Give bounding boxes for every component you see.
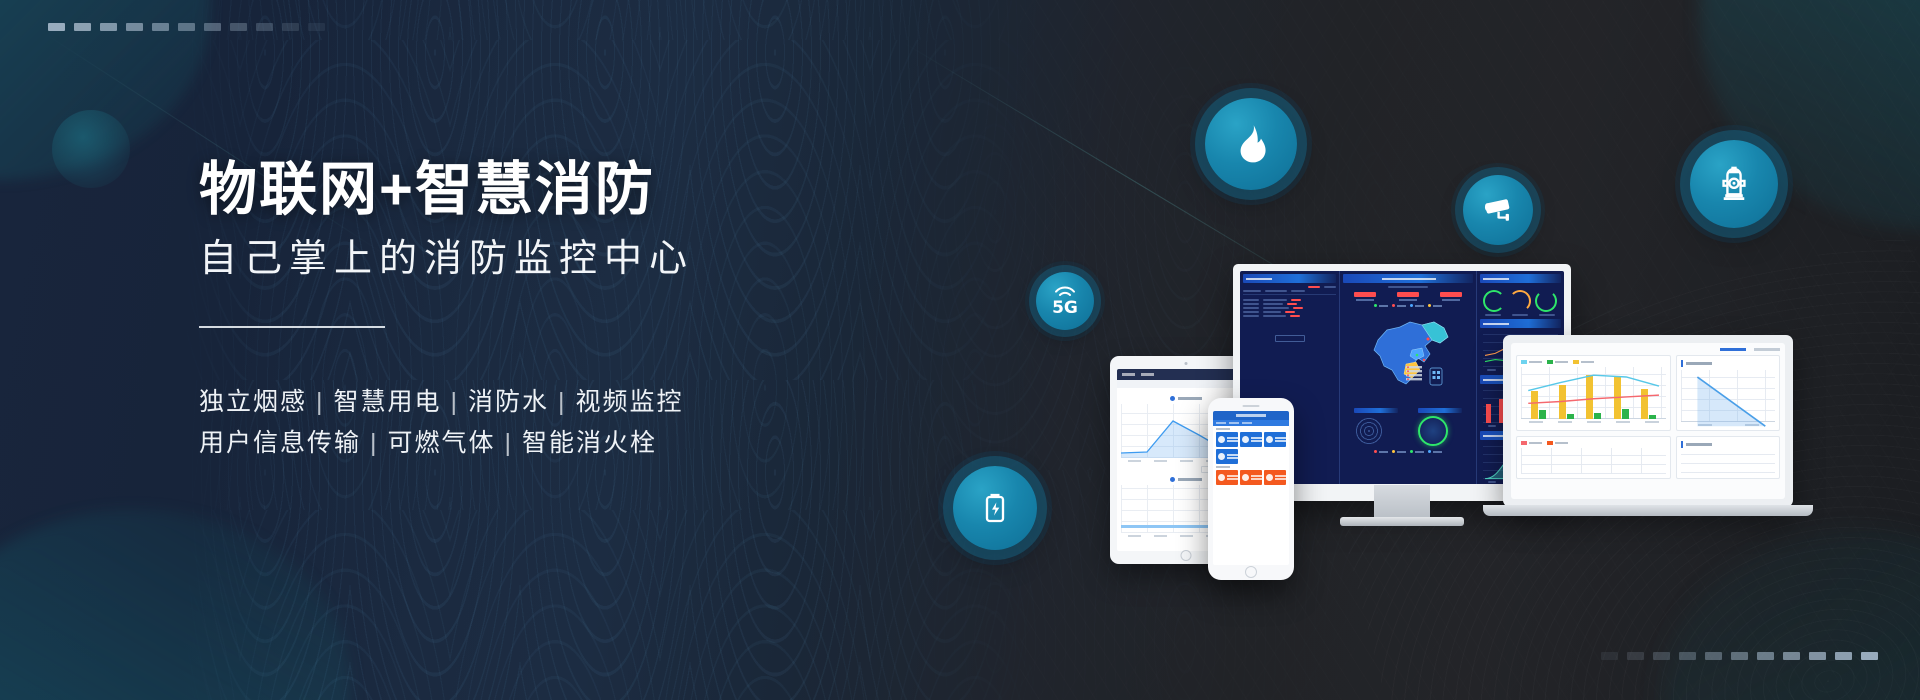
smartphone-mockup[interactable] (1208, 398, 1294, 580)
kpi-item (1440, 292, 1462, 301)
laptop-combo-chart (1521, 367, 1666, 419)
laptop-bottom-panels (1516, 436, 1780, 479)
phone-tile[interactable] (1240, 470, 1262, 485)
decorative-dash (230, 23, 247, 31)
laptop-chart-legend (1521, 360, 1666, 364)
page-subtitle: 自己掌上的消防监控中心 (199, 235, 839, 284)
tablet-camera-dot (1185, 362, 1188, 365)
laptop-decline-chart (1681, 370, 1775, 422)
decorative-dash (1783, 652, 1800, 660)
panel-title-trend (1480, 319, 1561, 328)
device-mockups (1110, 280, 1900, 610)
feature-separator: | (496, 429, 523, 457)
flame-icon-badge[interactable] (1205, 98, 1297, 190)
decorative-dash (74, 23, 91, 31)
kpi-item (1354, 292, 1376, 301)
decorative-dash (48, 23, 65, 31)
laptop-panels (1516, 355, 1780, 431)
gauge-row (1343, 408, 1472, 446)
decorative-dash (204, 23, 221, 31)
hero-copy: 物联网+智慧消防 自己掌上的消防监控中心 独立烟感|智慧用电|消防水|视频监控 … (199, 158, 839, 463)
fire-hydrant-icon (1712, 162, 1756, 206)
map-legend (1343, 304, 1472, 307)
tablet-home-button[interactable] (1181, 550, 1192, 561)
decorative-dash (1679, 652, 1696, 660)
laptop-line-chart-card (1676, 355, 1780, 431)
mini-gauge (1483, 290, 1505, 312)
laptop-table-card (1516, 436, 1671, 479)
phone-section-label (1216, 428, 1230, 430)
phone-section-label (1216, 466, 1230, 468)
laptop-chart-axis (1521, 421, 1666, 423)
mini-gauge (1509, 290, 1531, 312)
battery-bolt-icon (975, 488, 1015, 528)
phone-speaker (1243, 405, 1260, 407)
phone-home-button[interactable] (1245, 566, 1257, 578)
dash-row-bottom-right (1601, 652, 1878, 660)
feature-item: 智能消火栓 (522, 429, 657, 457)
phone-section-alarm (1213, 464, 1289, 485)
status-gauge (1418, 416, 1448, 446)
fire-hydrant-icon-badge[interactable] (1690, 140, 1778, 228)
radar-gauge (1354, 416, 1384, 446)
decorative-dash (1731, 652, 1748, 660)
monitor-stand (1374, 485, 1430, 519)
hero-banner: 物联网+智慧消防 自己掌上的消防监控中心 独立烟感|智慧用电|消防水|视频监控 … (0, 0, 1920, 700)
dash-row-top-left (48, 23, 325, 31)
kpi-item (1397, 292, 1419, 301)
feature-line-2: 用户信息传输|可燃气体|智能消火栓 (199, 423, 839, 464)
decorative-dash (1705, 652, 1722, 660)
phone-tile-grid-orange (1216, 470, 1286, 485)
mini-gauge (1535, 290, 1557, 312)
laptop-mockup[interactable] (1503, 335, 1793, 507)
flame-icon (1228, 121, 1274, 167)
phone-tile-grid-blue (1216, 432, 1286, 464)
decorative-dash (308, 23, 325, 31)
laptop-card-title (1681, 360, 1775, 367)
feature-item: 用户信息传输 (199, 429, 361, 457)
phone-tile[interactable] (1216, 449, 1238, 464)
decorative-dash (1757, 652, 1774, 660)
laptop-lid (1503, 335, 1793, 507)
decorative-dash (256, 23, 273, 31)
battery-bolt-icon-badge[interactable] (953, 466, 1037, 550)
phone-tile[interactable] (1216, 432, 1238, 447)
phone-screen (1213, 411, 1289, 565)
decorative-dash (1809, 652, 1826, 660)
5g-label: 5G (1052, 300, 1078, 317)
5g-signal-icon-badge[interactable]: 5G (1036, 272, 1094, 330)
panel-title-main (1343, 274, 1472, 283)
phone-tile[interactable] (1240, 432, 1262, 447)
feature-separator: | (549, 388, 576, 416)
decorative-dash (100, 23, 117, 31)
phone-tile[interactable] (1216, 470, 1238, 485)
decorative-dash (1835, 652, 1852, 660)
decorative-dash (126, 23, 143, 31)
decorative-dash (1861, 652, 1878, 660)
phone-app-header (1213, 411, 1289, 420)
kpi-row (1343, 292, 1472, 301)
laptop-base (1483, 505, 1813, 516)
china-map-visualization (1343, 310, 1472, 404)
phone-tile[interactable] (1264, 470, 1286, 485)
panel-title-device-stats (1480, 274, 1561, 283)
decorative-dash (1601, 652, 1618, 660)
monitor-base (1340, 517, 1464, 526)
decorative-dash (1627, 652, 1644, 660)
feature-item: 视频监控 (576, 388, 684, 416)
laptop-screen (1511, 343, 1785, 499)
feature-item: 可燃气体 (388, 429, 496, 457)
decorative-dash (178, 23, 195, 31)
laptop-small-card (1676, 436, 1780, 479)
cctv-camera-icon-badge[interactable] (1463, 175, 1533, 245)
phone-tile[interactable] (1264, 432, 1286, 447)
feature-item: 智慧用电 (334, 388, 442, 416)
dashboard-center-column (1340, 271, 1476, 484)
decorative-dash (1653, 652, 1670, 660)
5g-icon: 5G (1052, 286, 1078, 317)
feature-separator: | (361, 429, 388, 457)
cctv-camera-icon (1480, 192, 1516, 228)
decorative-dash (152, 23, 169, 31)
feature-separator: | (442, 388, 469, 416)
feature-item: 独立烟感 (199, 388, 307, 416)
decorative-dash (282, 23, 299, 31)
feature-separator: | (307, 388, 334, 416)
teal-circle-accent (52, 110, 130, 188)
feature-line-1: 独立烟感|智慧用电|消防水|视频监控 (199, 382, 839, 423)
page-title: 物联网+智慧消防 (199, 158, 839, 223)
laptop-tabs[interactable] (1516, 348, 1780, 351)
laptop-bar-chart-card (1516, 355, 1671, 431)
title-divider (199, 326, 385, 328)
feature-list: 独立烟感|智慧用电|消防水|视频监控 用户信息传输|可燃气体|智能消火栓 (199, 382, 839, 463)
mini-gauge-row (1480, 286, 1561, 314)
feature-item: 消防水 (468, 388, 549, 416)
teal-blob-bottom-left (0, 510, 350, 700)
panel-title-alarm-list (1243, 274, 1336, 283)
phone-section-normal (1213, 426, 1289, 464)
